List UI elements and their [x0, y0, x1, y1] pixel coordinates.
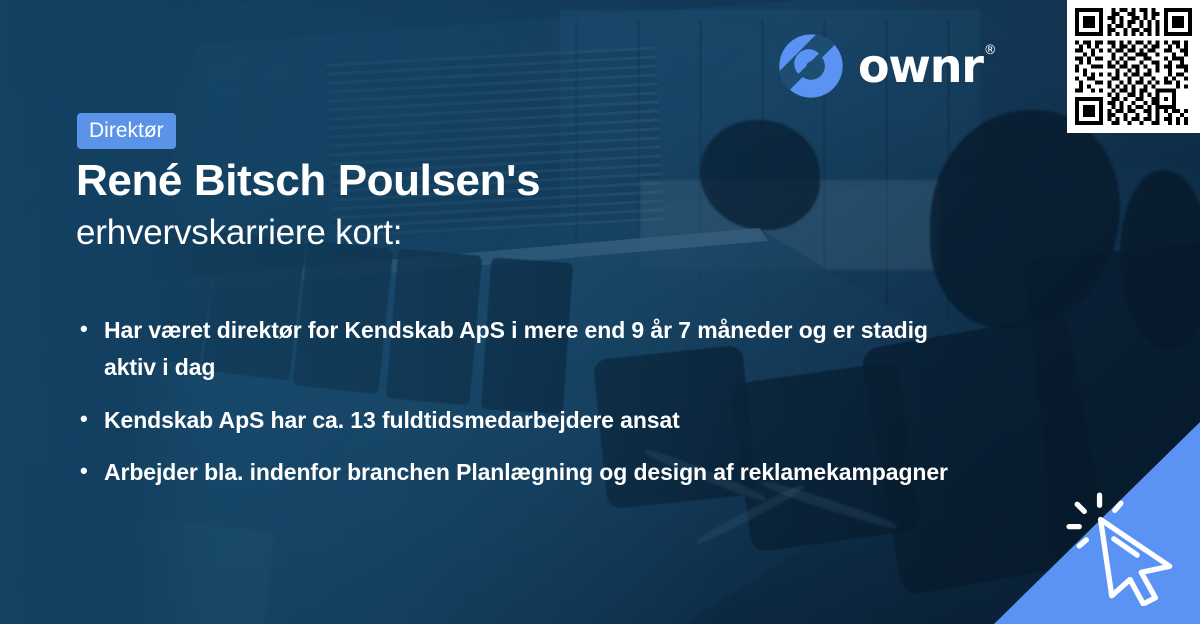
- list-item: Har været direktør for Kendskab ApS i me…: [76, 312, 956, 386]
- qr-code-image[interactable]: [1075, 8, 1192, 125]
- qr-code-panel[interactable]: [1067, 0, 1200, 133]
- ownr-wordmark: ownr®: [858, 43, 996, 89]
- ownr-logo[interactable]: ownr®: [778, 33, 996, 99]
- career-facts-list: Har været direktør for Kendskab ApS i me…: [76, 312, 956, 507]
- role-badge: Direktør: [77, 113, 176, 149]
- page-subtitle: erhvervskarriere kort:: [76, 213, 402, 252]
- page-title: René Bitsch Poulsen's: [76, 158, 540, 205]
- list-item: Kendskab ApS har ca. 13 fuldtidsmedarbej…: [76, 402, 956, 439]
- wordmark-text: ownr: [858, 39, 983, 93]
- list-item: Arbejder bla. indenfor branchen Planlægn…: [76, 454, 956, 491]
- promo-card: ownr®: [0, 0, 1200, 624]
- registered-trademark-icon: ®: [984, 43, 997, 58]
- ownr-circle-swoosh-icon: [778, 33, 844, 99]
- click-cursor-icon: [1066, 492, 1188, 606]
